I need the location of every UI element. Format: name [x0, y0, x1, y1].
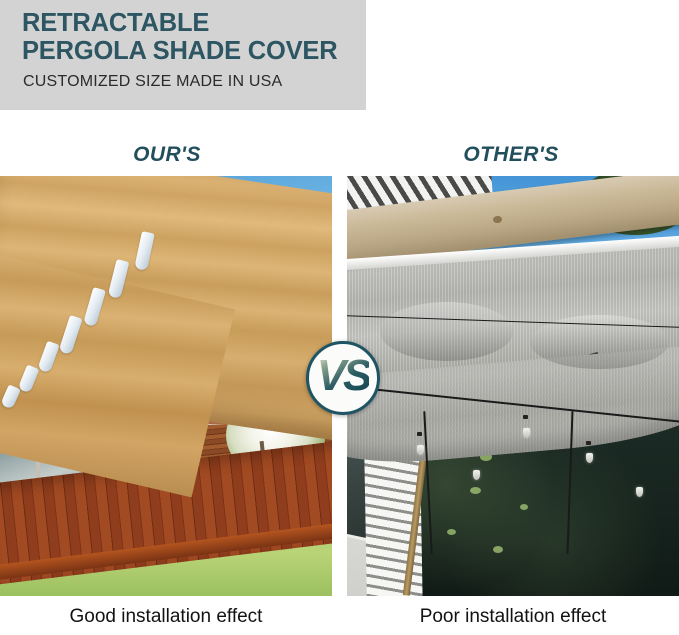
photo-good-installation: [0, 176, 332, 596]
bulb-cap: [523, 415, 528, 419]
column-heading-ours: OUR'S: [96, 143, 238, 167]
bulb-cap: [586, 441, 591, 445]
column-heading-others: OTHER'S: [440, 143, 582, 167]
leaf: [493, 546, 503, 553]
string-light-bulb: [417, 445, 424, 455]
vs-label: VS: [317, 354, 370, 398]
header-banner: RETRACTABLE PERGOLA SHADE COVER CUSTOMIZ…: [0, 0, 366, 110]
leaf: [470, 487, 481, 494]
photo-left-scene: [0, 176, 332, 596]
vs-badge: VS: [306, 341, 380, 415]
shade-sag-wrinkle: [380, 302, 513, 361]
leaf: [520, 504, 528, 510]
caption-poor-installation: Poor installation effect: [347, 606, 679, 628]
string-light-bulb: [636, 487, 643, 497]
photo-poor-installation: [347, 176, 679, 596]
caption-good-installation: Good installation effect: [0, 606, 332, 628]
photo-right-scene: [347, 176, 679, 596]
page-title: RETRACTABLE PERGOLA SHADE COVER: [22, 9, 362, 65]
leaf: [447, 529, 456, 535]
bulb-cap: [417, 432, 422, 436]
string-light-bulb: [523, 428, 530, 438]
page-subtitle: CUSTOMIZED SIZE MADE IN USA: [23, 73, 282, 91]
